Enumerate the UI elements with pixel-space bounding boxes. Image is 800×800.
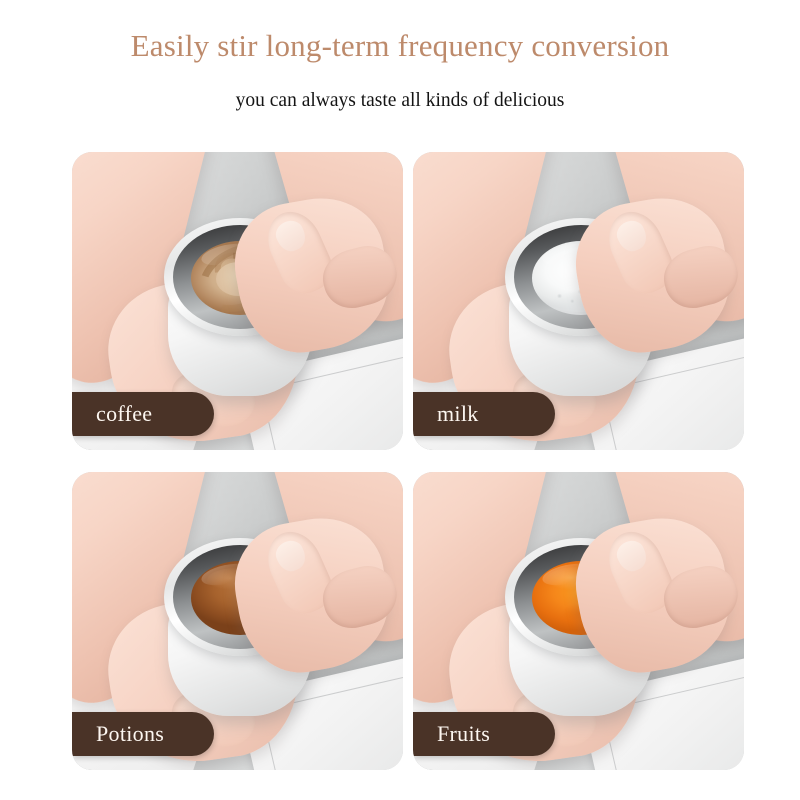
photo-panel-potions[interactable]: Potions [72, 472, 403, 770]
caption-badge-potions: Potions [72, 712, 214, 756]
page-title: Easily stir long-term frequency conversi… [0, 26, 800, 66]
caption-badge-coffee: coffee [72, 392, 214, 436]
page-header: Easily stir long-term frequency conversi… [0, 0, 800, 114]
photo-panel-milk[interactable]: milk [413, 152, 744, 450]
photo-panel-fruits[interactable]: Fruits [413, 472, 744, 770]
caption-badge-fruits: Fruits [413, 712, 555, 756]
photo-panel-coffee[interactable]: coffee [72, 152, 403, 450]
page-subtitle: you can always taste all kinds of delici… [0, 88, 800, 114]
product-photo-grid: coffee milk [72, 152, 744, 770]
caption-badge-milk: milk [413, 392, 555, 436]
